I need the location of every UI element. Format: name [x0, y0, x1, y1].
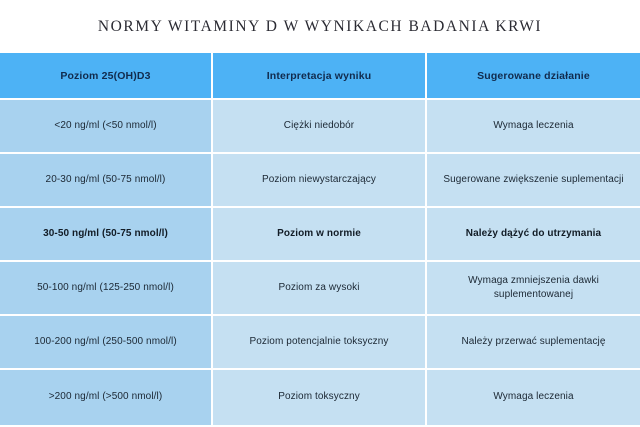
- cell-interpretation: Poziom toksyczny: [212, 369, 426, 425]
- cell-level: <20 ng/ml (<50 nmol/l): [0, 99, 212, 153]
- table-row: 100-200 ng/ml (250-500 nmol/l)Poziom pot…: [0, 315, 640, 369]
- cell-level: 100-200 ng/ml (250-500 nmol/l): [0, 315, 212, 369]
- cell-level: >200 ng/ml (>500 nmol/l): [0, 369, 212, 425]
- cell-action: Wymaga leczenia: [426, 99, 640, 153]
- cell-interpretation: Poziom za wysoki: [212, 261, 426, 315]
- cell-action: Wymaga zmniejszenia dawki suplementowane…: [426, 261, 640, 315]
- table-header-row: Poziom 25(OH)D3 Interpretacja wyniku Sug…: [0, 53, 640, 99]
- column-header-interpretation: Interpretacja wyniku: [212, 53, 426, 99]
- column-header-level: Poziom 25(OH)D3: [0, 53, 212, 99]
- cell-action: Należy dążyć do utrzymania: [426, 207, 640, 261]
- cell-interpretation: Ciężki niedobór: [212, 99, 426, 153]
- vitamin-d-norms-table: Poziom 25(OH)D3 Interpretacja wyniku Sug…: [0, 53, 640, 425]
- cell-level: 30-50 ng/ml (50-75 nmol/l): [0, 207, 212, 261]
- title-bar: NORMY WITAMINY D W WYNIKACH BADANIA KRWI: [0, 0, 640, 53]
- table-row: >200 ng/ml (>500 nmol/l)Poziom toksyczny…: [0, 369, 640, 425]
- table-body: <20 ng/ml (<50 nmol/l)Ciężki niedobórWym…: [0, 99, 640, 425]
- cell-action: Wymaga leczenia: [426, 369, 640, 425]
- cell-interpretation: Poziom niewystarczający: [212, 153, 426, 207]
- table-row: 50-100 ng/ml (125-250 nmol/l)Poziom za w…: [0, 261, 640, 315]
- table-row: 30-50 ng/ml (50-75 nmol/l)Poziom w normi…: [0, 207, 640, 261]
- table-row: <20 ng/ml (<50 nmol/l)Ciężki niedobórWym…: [0, 99, 640, 153]
- column-header-action: Sugerowane działanie: [426, 53, 640, 99]
- cell-level: 50-100 ng/ml (125-250 nmol/l): [0, 261, 212, 315]
- page-root: NORMY WITAMINY D W WYNIKACH BADANIA KRWI…: [0, 0, 640, 427]
- cell-interpretation: Poziom w normie: [212, 207, 426, 261]
- cell-interpretation: Poziom potencjalnie toksyczny: [212, 315, 426, 369]
- page-title: NORMY WITAMINY D W WYNIKACH BADANIA KRWI: [98, 18, 542, 36]
- cell-action: Sugerowane zwiększenie suplementacji: [426, 153, 640, 207]
- table-header: Poziom 25(OH)D3 Interpretacja wyniku Sug…: [0, 53, 640, 99]
- cell-level: 20-30 ng/ml (50-75 nmol/l): [0, 153, 212, 207]
- table-row: 20-30 ng/ml (50-75 nmol/l)Poziom niewyst…: [0, 153, 640, 207]
- cell-action: Należy przerwać suplementację: [426, 315, 640, 369]
